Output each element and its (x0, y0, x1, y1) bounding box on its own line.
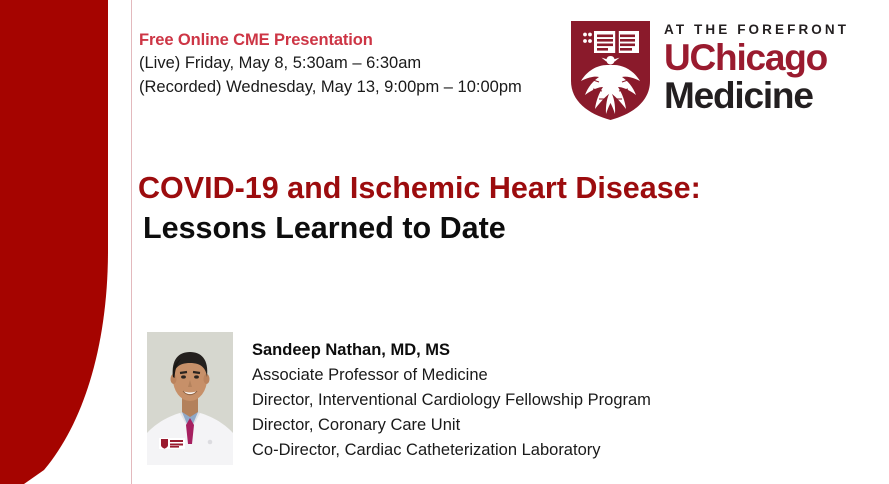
session-line-live: (Live) Friday, May 8, 5:30am – 6:30am (139, 51, 522, 75)
vertical-divider-rule (131, 0, 132, 484)
page-title: COVID-19 and Ischemic Heart Disease: Les… (138, 168, 701, 248)
logo-brand-uchicago: UChicago (664, 39, 827, 77)
session-info-block: Free Online CME Presentation (Live) Frid… (139, 29, 522, 99)
red-swoosh-decoration (0, 0, 130, 484)
logo-brand-medicine: Medicine (664, 77, 813, 115)
session-line-recorded: (Recorded) Wednesday, May 13, 9:00pm – 1… (139, 75, 522, 99)
speaker-name: Sandeep Nathan, MD, MS (252, 338, 651, 363)
speaker-info-block: Sandeep Nathan, MD, MS Associate Profess… (252, 338, 651, 463)
title-line-primary: COVID-19 and Ischemic Heart Disease: (138, 168, 701, 208)
speaker-title-2: Director, Interventional Cardiology Fell… (252, 388, 651, 413)
uchicago-phoenix-crest-icon (569, 19, 652, 122)
speaker-title-3: Director, Coronary Care Unit (252, 413, 651, 438)
uchicago-medicine-logo: AT THE FOREFRONT UChicago Medicine (569, 19, 869, 122)
logo-tagline: AT THE FOREFRONT (664, 22, 849, 38)
presentation-slide: Free Online CME Presentation (Live) Frid… (0, 0, 889, 484)
headshot-illustration (147, 332, 233, 465)
speaker-title-1: Associate Professor of Medicine (252, 363, 651, 388)
speaker-headshot-photo (147, 332, 233, 465)
title-line-secondary: Lessons Learned to Date (138, 208, 701, 248)
logo-wordmark: AT THE FOREFRONT UChicago Medicine (664, 19, 849, 115)
speaker-title-4: Co-Director, Cardiac Catheterization Lab… (252, 438, 651, 463)
cme-kicker-label: Free Online CME Presentation (139, 29, 522, 51)
